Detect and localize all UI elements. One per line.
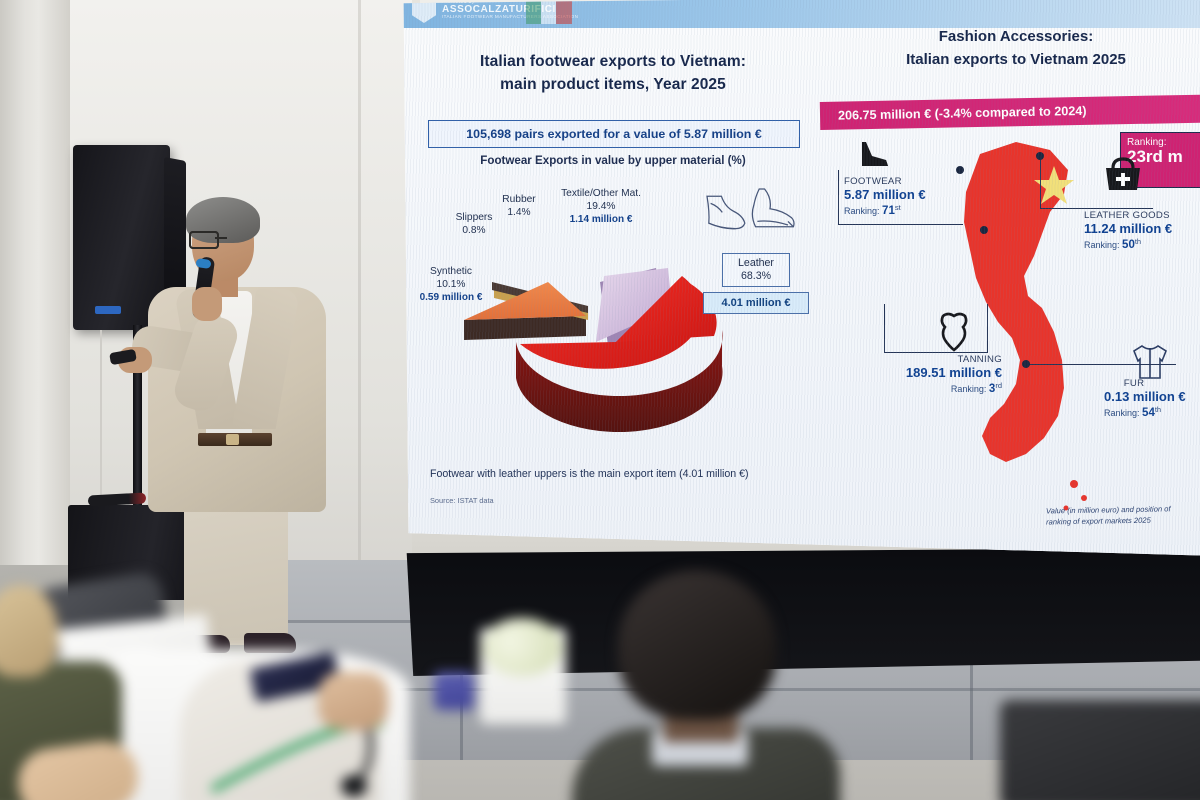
ranking-label: Ranking: [844, 206, 880, 216]
pie-label-rubber: Rubber 1.4% [482, 194, 556, 220]
right-title-line2: Italian exports to Vietnam 2025 [828, 49, 1200, 72]
presenter [140, 195, 330, 655]
callout-fur: FUR 0.13 million € Ranking: 54th [1104, 378, 1186, 419]
map-marker-central [980, 226, 988, 234]
footwear-sketch-icon [698, 180, 806, 252]
callout-tanning-ranking: Ranking: 3rd [884, 381, 1002, 395]
pie-chart-subtitle: Footwear Exports in value by upper mater… [398, 154, 828, 167]
callout-leather-goods: LEATHER GOODS 11.24 million € Ranking: 5… [1084, 210, 1172, 251]
audio-cable [100, 330, 102, 510]
callout-leathergoods-ranking: Ranking: 50th [1084, 237, 1172, 251]
pie-label-textile: Textile/Other Mat. 19.4% 1.14 million € [546, 188, 656, 226]
ranking-value: 50 [1122, 239, 1135, 251]
right-title-line1: Fashion Accessories: [828, 26, 1200, 49]
presenter-shoe-left [182, 635, 230, 653]
left-title-line2: main product items, Year 2025 [398, 73, 828, 96]
callout-footwear-ranking: Ranking: 71st [844, 203, 926, 217]
callout-leathergoods-value: 11.24 million € [1084, 221, 1172, 237]
callout-footwear-value: 5.87 million € [844, 187, 926, 203]
bottom-note-line2: ranking of export markets 2025 [1046, 514, 1200, 528]
slide-left-panel: Italian footwear exports to Vietnam: mai… [398, 28, 828, 570]
ranking-label: Ranking: [1104, 408, 1140, 418]
left-title-line1: Italian footwear exports to Vietnam: [398, 50, 828, 73]
presentation-slide: Promoted by ASSOCALZATURIFICI ITALIAN FO… [398, 0, 1200, 570]
screenshot-root: Promoted by ASSOCALZATURIFICI ITALIAN FO… [0, 0, 1200, 800]
wall-seam [358, 0, 361, 600]
left-title: Italian footwear exports to Vietnam: mai… [398, 50, 828, 97]
ranking-suffix: th [1155, 405, 1161, 414]
slide-right-panel: Fashion Accessories: Italian exports to … [828, 4, 1200, 570]
callout-fur-ranking: Ranking: 54th [1104, 405, 1186, 419]
ranking-label: Ranking: [951, 384, 987, 394]
eyeglasses-icon [189, 231, 255, 245]
callout-footwear: FOOTWEAR 5.87 million € Ranking: 71st [844, 176, 926, 217]
right-bottom-note: Value (in million euro) and position of … [1046, 503, 1200, 528]
callout-connector-tanning [884, 304, 988, 353]
ranking-value: 54 [1142, 407, 1155, 419]
ranking-suffix: th [1135, 237, 1141, 246]
ranking-label: Ranking: [1084, 240, 1120, 250]
map-marker-south [1022, 360, 1030, 368]
projection-screen: Promoted by ASSOCALZATURIFICI ITALIAN FO… [398, 0, 1200, 570]
callout-fur-name: FUR [1104, 378, 1164, 389]
callout-footwear-name: FOOTWEAR [844, 176, 926, 187]
callout-tanning-value: 189.51 million € [884, 365, 1002, 381]
callout-connector-leathergoods [1040, 156, 1153, 209]
screen-skirt [392, 548, 1200, 676]
total-exports-banner: 206.75 million € (-3.4% compared to 2024… [820, 94, 1200, 130]
wall-column [0, 0, 26, 600]
left-source-note: Source: ISTAT data [430, 496, 494, 505]
map-marker-north [956, 166, 964, 174]
callout-fur-value: 0.13 million € [1104, 389, 1186, 405]
belt-buckle [226, 434, 239, 445]
pairs-exported-highlight: 105,698 pairs exported for a value of 5.… [428, 120, 800, 148]
callout-tanning-name: TANNING [884, 354, 1002, 365]
callout-connector-fur [1026, 364, 1176, 366]
ranking-suffix: st [895, 203, 901, 212]
pie-chart [436, 224, 756, 464]
ranking-suffix: rd [995, 381, 1002, 390]
pa-speaker-logo [95, 306, 121, 314]
presenter-right-hand [192, 287, 222, 321]
leather-pct-callout: Leather 68.3% [722, 253, 790, 287]
left-footnote: Footwear with leather uppers is the main… [430, 468, 810, 480]
high-heel-shoe-icon [856, 134, 896, 174]
shield-logo-icon [412, 0, 436, 23]
callout-leathergoods-name: LEATHER GOODS [1084, 210, 1172, 221]
callout-tanning: TANNING 189.51 million € Ranking: 3rd [884, 354, 1002, 395]
right-title: Fashion Accessories: Italian exports to … [828, 26, 1200, 71]
presenter-shoe-right [244, 633, 296, 653]
leather-callout-pct: 68.3% [725, 270, 787, 283]
leather-callout-name: Leather [725, 257, 787, 270]
ranking-value: 71 [882, 205, 895, 217]
map-marker-northeast [1036, 152, 1044, 160]
italy-flag-icon [526, 0, 572, 24]
leather-value-callout: 4.01 million € [703, 292, 809, 314]
